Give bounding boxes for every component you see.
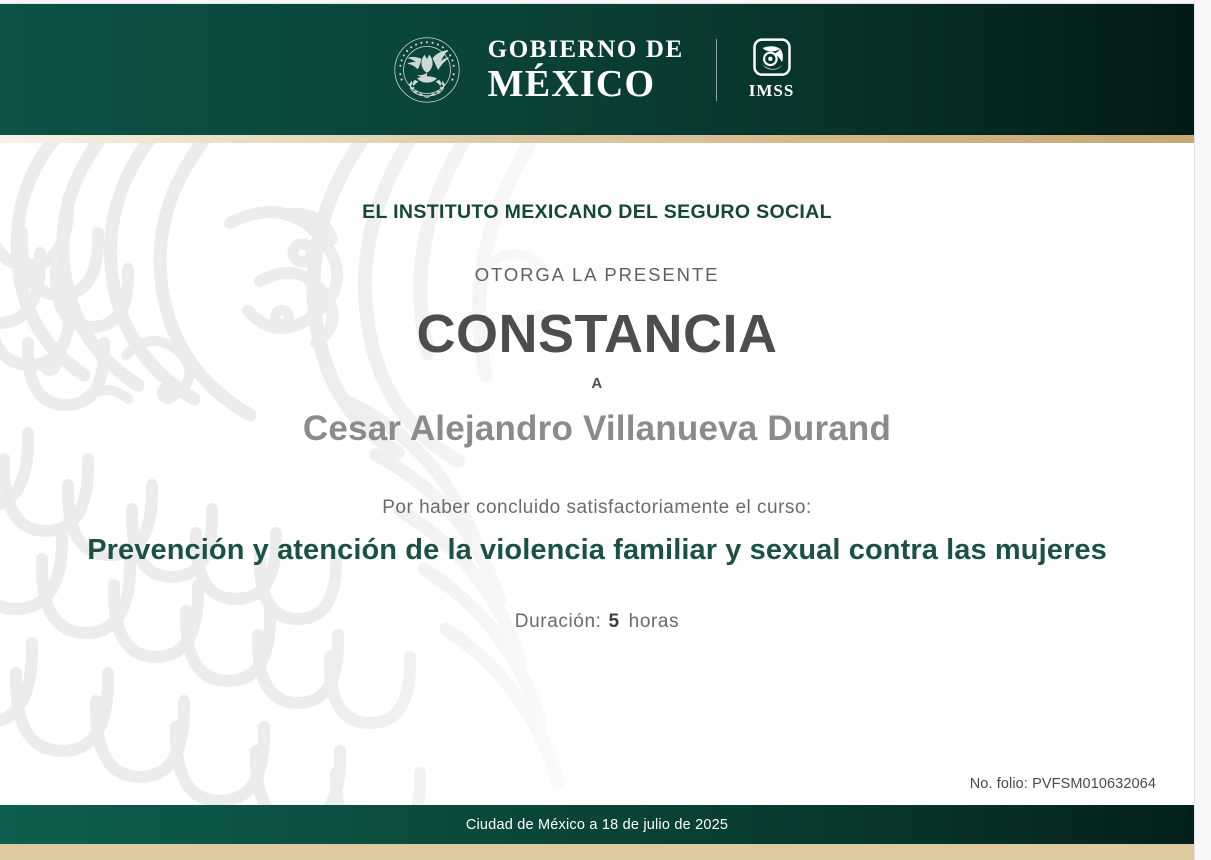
recipient-name: Cesar Alejandro Villanueva Durand — [0, 409, 1194, 449]
gold-accent-rule — [0, 135, 1194, 143]
grants-line: OTORGA LA PRESENTE — [0, 264, 1194, 286]
gobierno-line-1: GOBIERNO DE — [488, 37, 684, 62]
course-title: Prevención y atención de la violencia fa… — [0, 534, 1194, 567]
imss-logo: IMSS — [749, 38, 795, 101]
page-right-gutter[interactable] — [1194, 0, 1211, 860]
footer-tan-strip — [0, 844, 1194, 860]
imss-label: IMSS — [749, 81, 795, 101]
page-footer: Ciudad de México a 18 de julio de 2025 — [0, 805, 1194, 844]
header-divider — [716, 39, 717, 101]
duration-value: 5 — [609, 611, 620, 632]
institution-title: EL INSTITUTO MEXICANO DEL SEGURO SOCIAL — [0, 201, 1194, 224]
mexican-coat-of-arms-icon — [392, 35, 462, 105]
duration-label: Duración: — [515, 611, 602, 632]
page-header: GOBIERNO DE MÉXICO IMSS — [0, 4, 1194, 135]
certificate-page: GOBIERNO DE MÉXICO IMSS — [0, 4, 1194, 860]
gobierno-line-2: MÉXICO — [488, 65, 684, 103]
document-type-title: CONSTANCIA — [0, 303, 1194, 365]
header-lockup: GOBIERNO DE MÉXICO IMSS — [392, 35, 795, 105]
duration-unit: horas — [629, 611, 680, 632]
to-preposition: A — [0, 375, 1194, 392]
gobierno-wordmark: GOBIERNO DE MÉXICO — [488, 37, 684, 103]
duration-row: Duración:5horas — [0, 611, 1194, 633]
certificate-body: EL INSTITUTO MEXICANO DEL SEGURO SOCIAL … — [0, 143, 1194, 805]
completion-reason: Por haber concluido satisfactoriamente e… — [0, 497, 1194, 519]
certificate-viewport: GOBIERNO DE MÉXICO IMSS — [0, 0, 1211, 860]
folio-number: No. folio: PVFSM010632064 — [970, 776, 1156, 792]
imss-logo-icon — [752, 38, 792, 78]
certificate-content: EL INSTITUTO MEXICANO DEL SEGURO SOCIAL … — [0, 143, 1194, 633]
footer-date-line: Ciudad de México a 18 de julio de 2025 — [466, 817, 728, 833]
